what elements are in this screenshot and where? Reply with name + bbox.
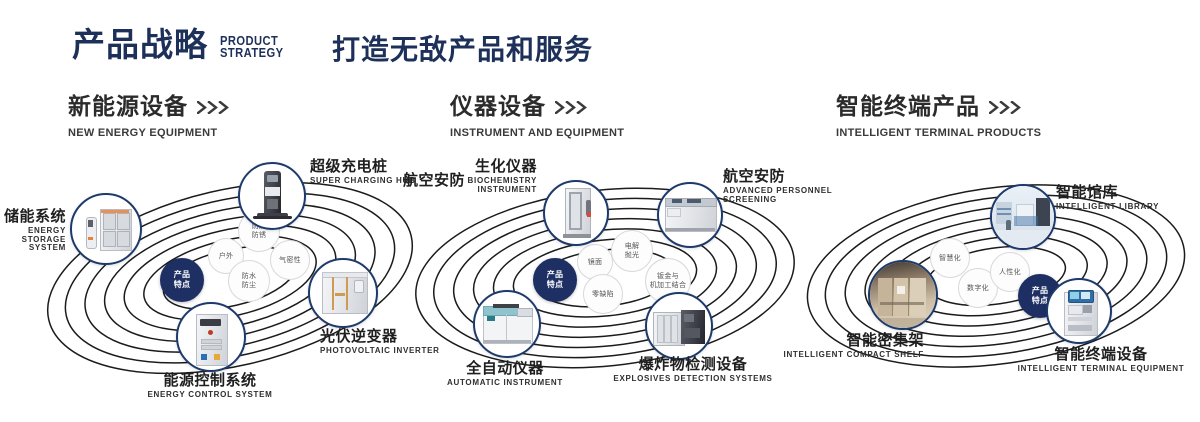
node-label-energy-control: 能源控制系统 ENERGY CONTROL SYSTEM: [110, 372, 310, 400]
explosive-detector-icon: [647, 294, 711, 358]
chevron-right-icon: [989, 101, 1023, 114]
node-label-aviation-security-left: 航空安防: [385, 172, 465, 188]
feature-label: 镜面: [588, 258, 603, 267]
kiosk-terminal-icon: [1048, 280, 1110, 342]
node-label-terminal-equipment: 智能终端设备 INTELLIGENT TERMINAL EQUIPMENT: [1006, 346, 1196, 374]
core-feature-line2: 特点: [174, 280, 191, 290]
feature-label: 智慧化: [939, 254, 961, 263]
library-room-icon: [992, 186, 1054, 248]
node-label-intelligent-library: 智能馆库 INTELLIGENT LIBRARY: [1056, 184, 1159, 212]
section-title-cn: 新能源设备: [68, 96, 188, 119]
cluster-instrument: 产品 特点 镜面 电解 抛光 零缺陷 钣金与 机加工结合: [405, 150, 805, 410]
feature-label: 气密性: [279, 256, 301, 265]
node-label-biochemistry-instrument: 生化仪器 BIOCHEMISTRY INSTRUMENT: [455, 158, 537, 194]
node-label-compact-shelf: 智能密集架 INTELLIGENT COMPACT SHELF: [744, 332, 924, 360]
feature-label: 数字化: [967, 284, 989, 293]
node-label-cn: 智能终端设备: [1006, 346, 1196, 362]
core-feature-line2: 特点: [547, 280, 564, 290]
security-gate-icon: [545, 182, 607, 244]
core-feature-bubble: 产品 特点: [533, 258, 577, 302]
node-label-en: ENERGY CONTROL SYSTEM: [110, 391, 310, 400]
node-label-cn: 智能馆库: [1056, 184, 1159, 200]
node-photovoltaic-inverter[interactable]: [308, 258, 378, 328]
poster-header: 产品战略 PRODUCT STRATEGY: [72, 28, 294, 61]
section-title-en: INSTRUMENT AND EQUIPMENT: [450, 127, 624, 139]
section-heading-instrument: 仪器设备 INSTRUMENT AND EQUIPMENT: [450, 96, 624, 139]
section-title-en: INTELLIGENT TERMINAL PRODUCTS: [836, 127, 1041, 139]
node-charging-hub[interactable]: [238, 162, 306, 230]
poster-title-cn: 产品战略: [72, 28, 208, 61]
chevron-right-icon: [555, 101, 589, 114]
screening-machine-icon: [659, 184, 721, 246]
feature-label-line1: 电解: [625, 242, 640, 251]
charging-pile-icon: [240, 164, 304, 228]
core-feature-bubble: 产品 特点: [160, 258, 204, 302]
feature-label-line2: 防锈: [252, 231, 267, 240]
node-label-en: INTELLIGENT COMPACT SHELF: [744, 351, 924, 360]
node-label-cn: 智能密集架: [744, 332, 924, 348]
inverter-cabinet-icon: [310, 260, 376, 326]
node-label-en: EXPLOSIVES DETECTION SYSTEMS: [593, 375, 793, 384]
poster-subtitle: 打造无敌产品和服务: [332, 36, 593, 64]
feature-label-line2: 抛光: [625, 251, 640, 260]
node-label-explosives-detection: 爆炸物检测设备 EXPLOSIVES DETECTION SYSTEMS: [593, 356, 793, 384]
feature-label: 户外: [219, 252, 234, 261]
node-label-automatic-instrument: 全自动仪器 AUTOMATIC INSTRUMENT: [415, 360, 595, 388]
poster-title-en: PRODUCT STRATEGY: [220, 35, 283, 59]
section-heading-intelligent-terminal: 智能终端产品 INTELLIGENT TERMINAL PRODUCTS: [836, 96, 1041, 139]
feature-label-line1: 钣金与: [650, 272, 687, 281]
feature-label: 零缺陷: [592, 290, 614, 299]
compact-shelf-icon: [870, 262, 936, 328]
core-feature-line1: 产品: [547, 270, 564, 280]
section-title-en: NEW ENERGY EQUIPMENT: [68, 127, 231, 139]
node-label-en: INTELLIGENT LIBRARY: [1056, 203, 1159, 212]
node-intelligent-library[interactable]: [990, 184, 1056, 250]
node-automatic-instrument[interactable]: [473, 290, 541, 358]
feature-label: 人性化: [999, 268, 1021, 277]
feature-bubble: 防水 防尘: [228, 260, 270, 302]
section-heading-new-energy: 新能源设备 NEW ENERGY EQUIPMENT: [68, 96, 231, 139]
node-label-cn: 储能系统: [2, 208, 66, 224]
node-biochemistry-instrument[interactable]: [543, 180, 609, 246]
section-title-cn: 仪器设备: [450, 96, 546, 119]
feature-bubble: 气密性: [270, 240, 310, 280]
feature-label-line2: 防尘: [242, 281, 257, 290]
node-label-cn: 航空安防: [385, 172, 465, 188]
poster-canvas: 产品战略 PRODUCT STRATEGY 打造无敌产品和服务 新能源设备 NE…: [0, 0, 1200, 422]
node-label-en: BIOCHEMISTRY INSTRUMENT: [455, 177, 537, 194]
node-explosives-detection[interactable]: [645, 292, 713, 360]
core-feature-line1: 产品: [1032, 286, 1049, 296]
node-label-cn: 能源控制系统: [110, 372, 310, 388]
battery-cabinet-icon: [72, 195, 140, 263]
node-compact-shelf[interactable]: [868, 260, 938, 330]
node-label-en: INTELLIGENT TERMINAL EQUIPMENT: [1006, 365, 1196, 374]
node-energy-control[interactable]: [176, 302, 246, 372]
node-label-cn: 全自动仪器: [415, 360, 595, 376]
feature-label-line2: 机加工结合: [650, 281, 687, 290]
core-feature-line1: 产品: [174, 270, 191, 280]
node-label-cn: 生化仪器: [455, 158, 537, 174]
node-advanced-personnel-screening[interactable]: [657, 182, 723, 248]
node-energy-storage[interactable]: [70, 193, 142, 265]
cluster-new-energy: 产品 特点 户外 防腐 防锈 防水 防尘 气密性: [30, 150, 430, 410]
cluster-intelligent-terminal: 智慧化 数字化 人性化 产品 特点: [800, 150, 1200, 410]
node-label-en: AUTOMATIC INSTRUMENT: [415, 379, 595, 388]
feature-label-line1: 防水: [242, 272, 257, 281]
auto-analyzer-icon: [475, 292, 539, 356]
section-title-cn: 智能终端产品: [836, 96, 980, 119]
chevron-right-icon: [197, 101, 231, 114]
node-terminal-equipment[interactable]: [1046, 278, 1112, 344]
control-cabinet-icon: [178, 304, 244, 370]
node-label-en: ENERGY STORAGE SYSTEM: [2, 227, 66, 253]
node-label-energy-storage: 储能系统 ENERGY STORAGE SYSTEM: [2, 208, 66, 253]
feature-bubble: 电解 抛光: [611, 230, 653, 272]
feature-bubble: 零缺陷: [583, 274, 623, 314]
poster-title-en-line2: STRATEGY: [220, 47, 283, 59]
